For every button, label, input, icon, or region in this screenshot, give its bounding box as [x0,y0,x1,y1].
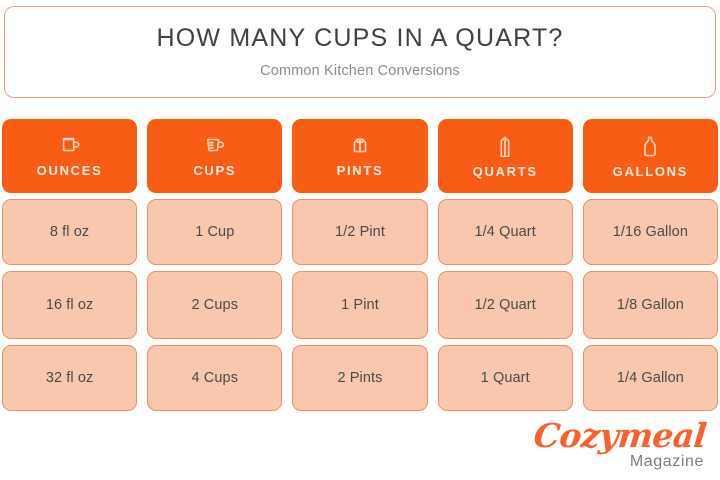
cell-value: 1 Cup [195,224,234,240]
cozymeal-logo: Cozymeal Magazine [534,419,706,470]
table-cell: 4 Cups [147,345,282,411]
table-cell: 1/2 Quart [438,271,573,339]
column-header-label: GALLONS [613,164,688,179]
column-header-pints: PINTS [292,119,427,193]
table-cell: 16 fl oz [2,271,137,339]
table-cell: 32 fl oz [2,345,137,411]
cell-value: 8 fl oz [50,224,89,240]
cell-value: 1/16 Gallon [613,224,688,240]
cell-value: 2 Pints [337,370,382,386]
column-header-label: OUNCES [37,163,103,178]
table-cell: 1/16 Gallon [583,199,718,265]
table-cell: 8 fl oz [2,199,137,265]
header-card: HOW MANY CUPS IN A QUART? Common Kitchen… [4,6,716,98]
table-cell: 1 Cup [147,199,282,265]
column-header-label: PINTS [337,163,384,178]
cell-value: 2 Cups [192,297,239,313]
cell-value: 1/2 Quart [475,297,536,313]
column-header-quarts: QUARTS [438,119,573,193]
table-cell: 1 Quart [438,345,573,411]
cell-value: 32 fl oz [46,370,94,386]
cell-value: 1/2 Pint [335,224,385,240]
column-header-gallons: GALLONS [583,119,718,193]
measuring-jug-icon [59,134,81,156]
column-header-ounces: OUNCES [2,119,137,193]
conversion-table: OUNCES CUPS PINTS QUART [2,119,718,411]
table-cell: 1/4 Gallon [583,345,718,411]
table-cell: 2 Pints [292,345,427,411]
cell-value: 1/4 Quart [475,224,536,240]
gallon-jug-icon [639,134,661,157]
page-subtitle: Common Kitchen Conversions [260,63,460,79]
cell-value: 16 fl oz [46,297,94,313]
logo-wordmark: Cozymeal [532,419,707,452]
cell-value: 1 Pint [341,297,379,313]
measuring-cup-icon [204,134,226,156]
quart-carton-icon [494,134,516,157]
table-cell: 1/8 Gallon [583,271,718,339]
table-cell: 1/4 Quart [438,199,573,265]
cell-value: 1/8 Gallon [617,297,684,313]
table-cell: 2 Cups [147,271,282,339]
table-cell: 1 Pint [292,271,427,339]
cell-value: 1/4 Gallon [617,370,684,386]
cell-value: 1 Quart [481,370,530,386]
column-header-label: CUPS [193,163,236,178]
pint-carton-icon [349,134,371,156]
column-header-cups: CUPS [147,119,282,193]
page-title: HOW MANY CUPS IN A QUART? [157,25,564,53]
logo-subtitle: Magazine [534,454,704,470]
table-cell: 1/2 Pint [292,199,427,265]
cell-value: 4 Cups [192,370,239,386]
column-header-label: QUARTS [473,164,538,179]
